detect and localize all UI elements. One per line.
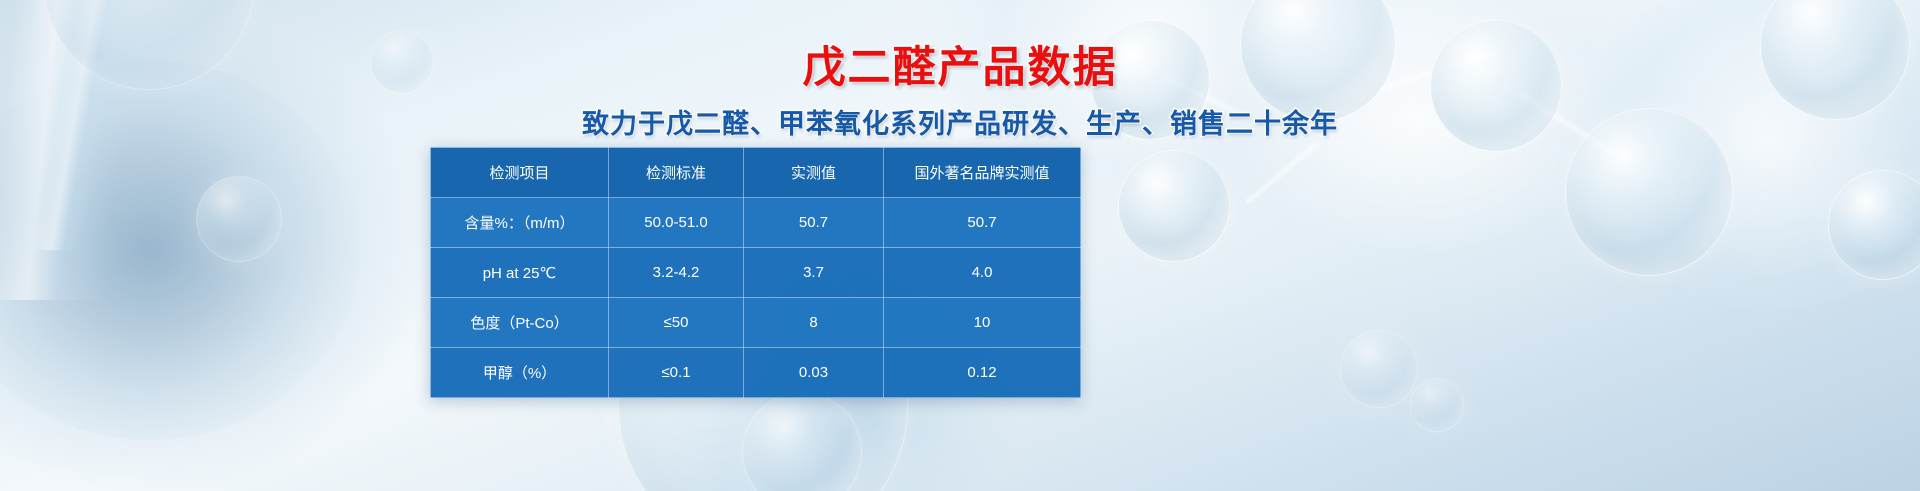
banner-heading-group: 戊二醛产品数据 致力于戊二醛、甲苯氧化系列产品研发、生产、销售二十余年	[0, 44, 1920, 141]
table-row: 甲醇（%） ≤0.1 0.03 0.12	[431, 348, 1081, 398]
molecule-node-8	[1340, 330, 1418, 408]
cell-item: 色度（Pt-Co）	[431, 298, 609, 348]
cell-item: 含量%：（m/m）	[431, 198, 609, 248]
product-data-banner: 戊二醛产品数据 致力于戊二醛、甲苯氧化系列产品研发、生产、销售二十余年 检测项目…	[0, 0, 1920, 491]
cell-item: 甲醇（%）	[431, 348, 609, 398]
table-row: 含量%：（m/m） 50.0-51.0 50.7 50.7	[431, 198, 1081, 248]
page-subtitle: 致力于戊二醛、甲苯氧化系列产品研发、生产、销售二十余年	[0, 102, 1920, 141]
molecule-node-7	[1828, 170, 1920, 280]
bubble-center-small	[742, 392, 862, 491]
column-header-foreign-brand: 国外著名品牌实测值	[884, 148, 1081, 198]
table-row: pH at 25℃ 3.2-4.2 3.7 4.0	[431, 248, 1081, 298]
page-title: 戊二醛产品数据	[0, 44, 1920, 92]
cell-foreign-brand: 4.0	[884, 248, 1081, 298]
column-header-measured: 实测值	[744, 148, 884, 198]
column-header-standard: 检测标准	[609, 148, 744, 198]
cell-standard: 3.2-4.2	[609, 248, 744, 298]
cell-measured: 50.7	[744, 198, 884, 248]
molecule-node-9	[1410, 378, 1464, 432]
cell-measured: 0.03	[744, 348, 884, 398]
cell-standard: 50.0-51.0	[609, 198, 744, 248]
cell-foreign-brand: 10	[884, 298, 1081, 348]
table-header-row: 检测项目 检测标准 实测值 国外著名品牌实测值	[431, 148, 1081, 198]
cell-measured: 3.7	[744, 248, 884, 298]
cell-foreign-brand: 50.7	[884, 198, 1081, 248]
spec-table-head: 检测项目 检测标准 实测值 国外著名品牌实测值	[431, 148, 1081, 198]
spec-table: 检测项目 检测标准 实测值 国外著名品牌实测值 含量%：（m/m） 50.0-5…	[430, 147, 1081, 398]
cell-standard: ≤50	[609, 298, 744, 348]
spec-table-container: 检测项目 检测标准 实测值 国外著名品牌实测值 含量%：（m/m） 50.0-5…	[430, 147, 1080, 398]
molecule-bond-4	[1244, 140, 1321, 207]
column-header-item: 检测项目	[431, 148, 609, 198]
bubble-small-1	[196, 176, 282, 262]
table-row: 色度（Pt-Co） ≤50 8 10	[431, 298, 1081, 348]
molecule-node-5	[1118, 150, 1230, 262]
cell-foreign-brand: 0.12	[884, 348, 1081, 398]
cell-item: pH at 25℃	[431, 248, 609, 298]
spec-table-body: 含量%：（m/m） 50.0-51.0 50.7 50.7 pH at 25℃ …	[431, 198, 1081, 398]
cell-measured: 8	[744, 298, 884, 348]
cell-standard: ≤0.1	[609, 348, 744, 398]
